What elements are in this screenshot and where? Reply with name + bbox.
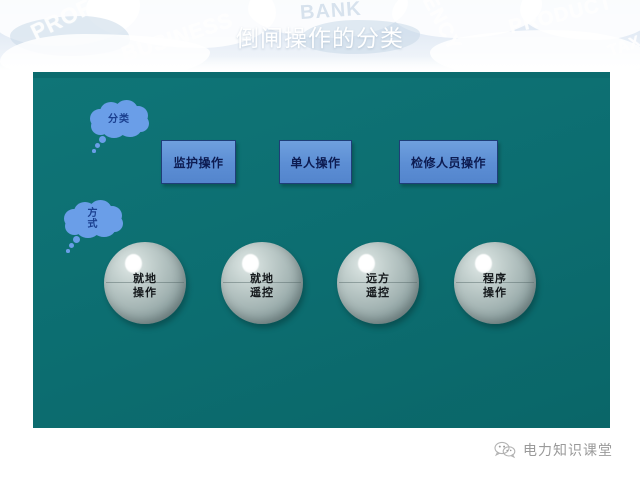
thought-bubble-tail-dot (95, 143, 100, 148)
content-panel: 分类方式 监护操作单人操作检修人员操作 就地操作就地遥控远方遥控程序操作 (33, 78, 610, 428)
header-fade (0, 56, 640, 72)
thought-bubble: 方式 (62, 200, 124, 238)
wechat-icon (494, 441, 516, 459)
operation-mode-sphere[interactable]: 远方遥控 (337, 242, 419, 324)
sphere-label-line1: 远方 (366, 272, 390, 286)
thought-bubble: 分类 (88, 100, 150, 138)
cloud-shape: 方式 (62, 200, 124, 238)
sphere-label-line1: 程序 (483, 272, 507, 286)
category-box[interactable]: 单人操作 (279, 140, 352, 184)
cloud-shape: 分类 (88, 100, 150, 138)
thought-bubble-tail-dot (92, 149, 96, 153)
sphere-label-line2: 遥控 (366, 286, 390, 300)
sphere-label-line2: 操作 (483, 286, 507, 300)
thought-bubble-label: 方式 (62, 200, 124, 238)
sphere-label-line2: 遥控 (250, 286, 274, 300)
operation-mode-sphere[interactable]: 就地操作 (104, 242, 186, 324)
sphere-label-line1: 就地 (250, 272, 274, 286)
sphere-label-line1: 就地 (133, 272, 157, 286)
sphere-label: 就地操作 (104, 242, 186, 324)
thought-bubble-tail-dot (66, 249, 70, 253)
watermark-word: BANK (299, 0, 362, 25)
thought-bubble-tail-dot (69, 243, 74, 248)
category-box-label: 监护操作 (173, 154, 223, 171)
sphere-label: 程序操作 (454, 242, 536, 324)
page-title: 倒闸操作的分类 (0, 24, 640, 54)
brand-watermark: 电力知识课堂 (494, 440, 613, 460)
sphere-label: 就地遥控 (221, 242, 303, 324)
category-box[interactable]: 监护操作 (161, 140, 236, 184)
category-box[interactable]: 检修人员操作 (399, 140, 498, 184)
operation-mode-sphere[interactable]: 程序操作 (454, 242, 536, 324)
slide-header: PROFITBUSINESSBANKAGENCYPRODUCTTAX 倒闸操作的… (0, 0, 640, 72)
category-box-label: 单人操作 (290, 154, 340, 171)
thought-bubble-label: 分类 (88, 100, 150, 138)
category-box-label: 检修人员操作 (411, 154, 486, 171)
slide-canvas: PROFITBUSINESSBANKAGENCYPRODUCTTAX 倒闸操作的… (0, 0, 640, 480)
brand-text: 电力知识课堂 (523, 440, 613, 460)
operation-mode-sphere[interactable]: 就地遥控 (221, 242, 303, 324)
sphere-label: 远方遥控 (337, 242, 419, 324)
sphere-label-line2: 操作 (133, 286, 157, 300)
